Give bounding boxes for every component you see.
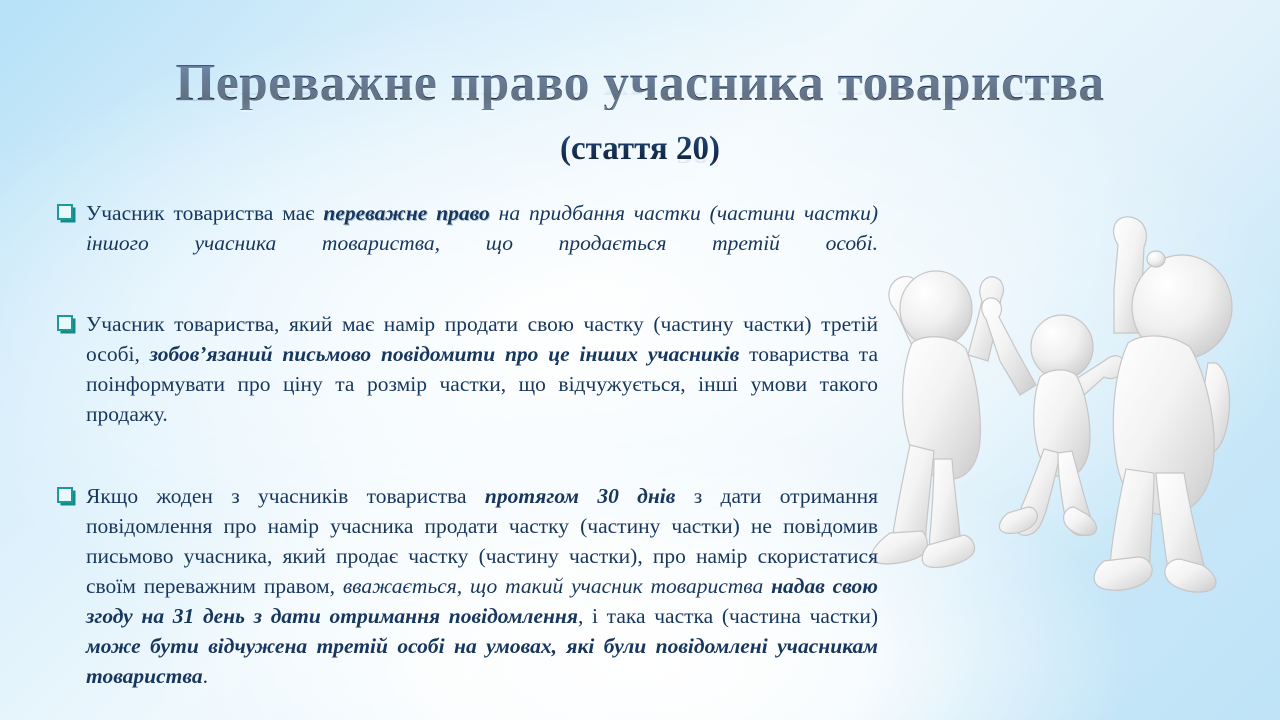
bullet-3-run-5: , і така частка (частина частки) — [578, 604, 878, 628]
bullet-3-run-1-emphasis: протягом 30 днів — [485, 484, 676, 508]
slide-canvas: Переважне право учасника товариства Пере… — [0, 0, 1280, 720]
bullet-1-run-1-emphasis: переважне право — [323, 201, 489, 225]
bullet-3-run-3: вважається, що такий учасник товариства — [343, 574, 771, 598]
hollow-square-bullet-icon — [57, 315, 73, 331]
page-title: Переважне право учасника товариства Пере… — [0, 57, 1280, 136]
bullet-2-run-1-emphasis: зобов’язаний письмово повідомити про це … — [150, 342, 740, 366]
page-subtitle: (стаття 20) (стаття 20) — [0, 132, 1280, 182]
bullet-1-run-0: Учасник товариства має — [86, 201, 323, 225]
bullet-item-2: Учасник товариства, який має намір прода… — [56, 309, 878, 459]
page-subtitle-reflection: (стаття 20) — [19, 156, 1261, 166]
title-block: Переважне право учасника товариства Пере… — [0, 57, 1280, 182]
mannequin-left — [872, 271, 1004, 567]
hollow-square-bullet-icon — [57, 487, 73, 503]
mannequin-right — [1094, 217, 1232, 592]
bullet-item-3: Якщо жоден з учасників товариства протяг… — [56, 481, 878, 720]
page-title-reflection: Переважне право учасника товариства — [19, 87, 1261, 106]
bullet-3-run-7: . — [203, 664, 208, 688]
bullet-3-run-0: Якщо жоден з учасників товариства — [86, 484, 485, 508]
mannequin-middle — [982, 298, 1125, 535]
hollow-square-bullet-icon — [57, 204, 73, 220]
bullet-item-1: Учасник товариства має переважне право н… — [56, 198, 878, 288]
bullet-list: Учасник товариства має переважне право н… — [56, 176, 878, 720]
three-3d-mannequin-figures-icon — [860, 215, 1280, 615]
